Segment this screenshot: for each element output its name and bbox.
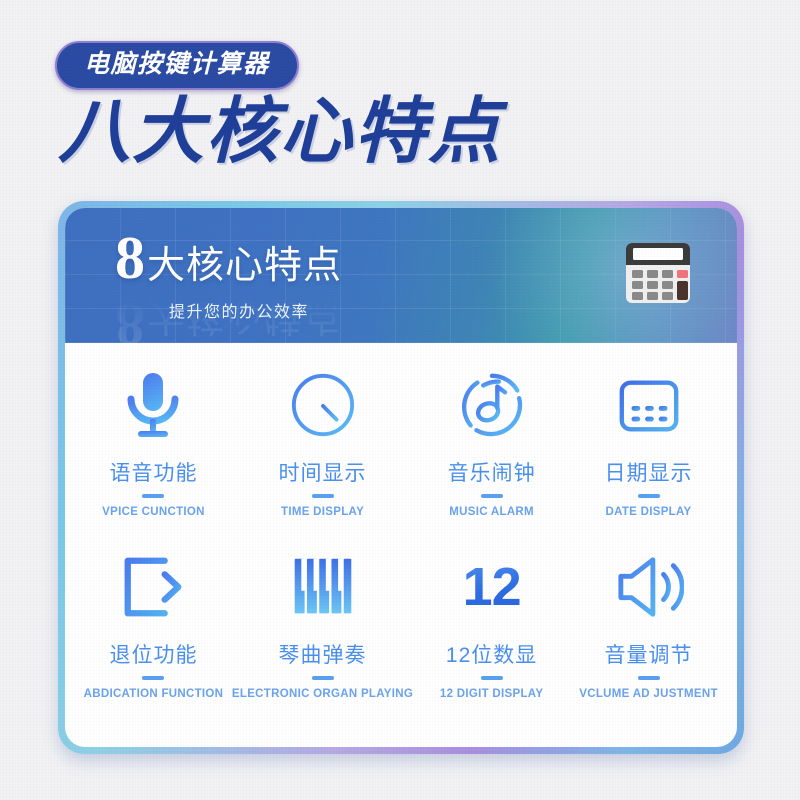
divider-dash: [142, 676, 164, 680]
banner-headline: 8 大核心特点: [115, 228, 342, 288]
feature-item-12-digit[interactable]: 12 12位数显 12 DIGIT DISPLAY: [413, 541, 570, 723]
card-header-banner: 8 大核心特点 8 大核心特点 提升您的办公效率: [65, 208, 737, 343]
divider-dash: [481, 676, 503, 680]
divider-dash: [481, 494, 503, 498]
feature-label-cn: 音乐闹钟: [448, 457, 536, 487]
feature-label-en: VPICE CUNCTION: [102, 506, 205, 518]
feature-label-cn: 时间显示: [279, 457, 367, 487]
feature-item-volume[interactable]: 音量调节 VCLUME AD JUSTMENT: [570, 541, 727, 723]
divider-dash: [142, 494, 164, 498]
feature-item-music-alarm[interactable]: 音乐闹钟 MUSIC ALARM: [413, 359, 570, 541]
feature-label-en: ABDICATION FUNCTION: [84, 688, 224, 700]
divider-dash: [312, 676, 334, 680]
feature-label-en: ELECTRONIC ORGAN PLAYING: [232, 688, 413, 700]
calendar-icon: [615, 367, 683, 443]
feature-label-en: 12 DIGIT DISPLAY: [440, 688, 543, 700]
banner-text-block: 8 大核心特点 提升您的办公效率: [115, 228, 342, 322]
banner-subtitle: 提升您的办公效率: [169, 298, 342, 322]
feature-label-cn: 语音功能: [109, 457, 197, 487]
divider-dash: [638, 494, 660, 498]
speaker-icon: [614, 549, 684, 625]
feature-card-body: 8 大核心特点 8 大核心特点 提升您的办公效率: [65, 208, 737, 747]
number-12-icon: 12: [463, 549, 521, 625]
clock-icon: [289, 367, 357, 443]
feature-label-cn: 日期显示: [605, 457, 693, 487]
feature-label-cn: 音量调节: [605, 639, 693, 669]
number-12-text: 12: [463, 560, 521, 614]
piano-keys-icon: [290, 549, 356, 625]
calculator-icon: [622, 237, 694, 309]
feature-label-en: MUSIC ALARM: [449, 506, 534, 518]
product-badge: 电脑按键计算器: [55, 41, 299, 90]
feature-item-backspace[interactable]: 退位功能 ABDICATION FUNCTION: [75, 541, 232, 723]
exit-arrow-icon: [118, 549, 188, 625]
feature-item-organ[interactable]: 琴曲弹奏 ELECTRONIC ORGAN PLAYING: [232, 541, 413, 723]
divider-dash: [312, 494, 334, 498]
feature-label-cn: 琴曲弹奏: [279, 639, 367, 669]
page-title: 八大核心特点: [58, 96, 502, 168]
feature-card: 8 大核心特点 8 大核心特点 提升您的办公效率: [58, 201, 744, 754]
feature-label-cn: 12位数显: [446, 639, 537, 669]
music-note-icon: [458, 367, 526, 443]
feature-label-en: VCLUME AD JUSTMENT: [579, 688, 718, 700]
feature-label-en: DATE DISPLAY: [606, 506, 692, 518]
banner-glow-overlay: [477, 208, 737, 343]
feature-item-date[interactable]: 日期显示 DATE DISPLAY: [570, 359, 727, 541]
microphone-icon: [121, 367, 185, 443]
feature-item-time[interactable]: 时间显示 TIME DISPLAY: [232, 359, 413, 541]
feature-label-cn: 退位功能: [109, 639, 197, 669]
feature-label-en: TIME DISPLAY: [281, 506, 364, 518]
badge-container: 电脑按键计算器: [55, 41, 299, 90]
feature-grid: 语音功能 VPICE CUNCTION: [65, 343, 737, 747]
divider-dash: [638, 676, 660, 680]
feature-item-voice[interactable]: 语音功能 VPICE CUNCTION: [75, 359, 232, 541]
headline-number: 8: [115, 228, 145, 288]
headline-text: 大核心特点: [147, 247, 342, 285]
